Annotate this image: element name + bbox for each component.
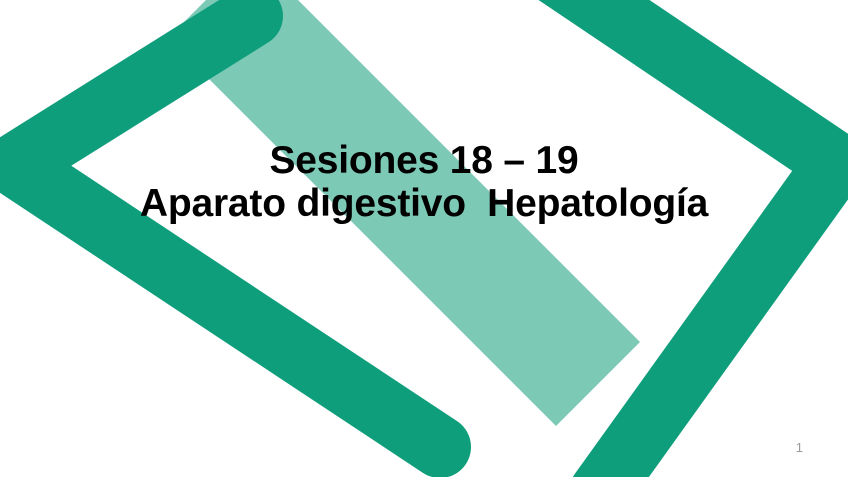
page-number: 1 [796,440,803,455]
double-chevron-ribbon-logo [0,0,848,477]
ribbon-band-stroke [168,0,640,426]
slide-canvas: Sesiones 18 – 19 Aparato digestivo Hepat… [0,0,848,477]
diagonal-ribbon-band [168,0,640,426]
